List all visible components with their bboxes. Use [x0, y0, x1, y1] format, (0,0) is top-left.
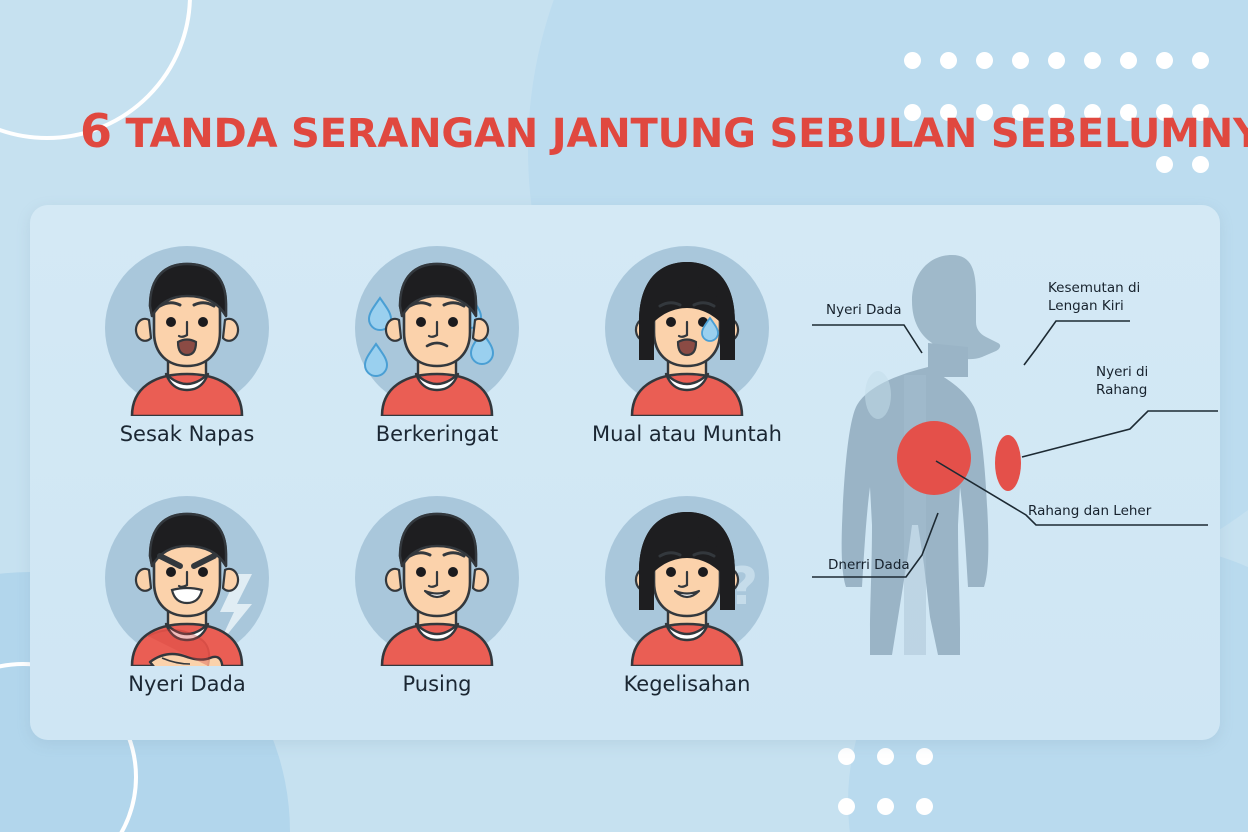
body-silhouette-svg	[800, 225, 1230, 725]
leader-jaw-pain	[1022, 411, 1218, 457]
symptom-card: Berkeringat	[312, 236, 562, 486]
page-title: 6 TANDA SERANGAN JANTUNG SEBULAN SEBELUM…	[80, 104, 1248, 158]
symptom-card-label: Pusing	[312, 672, 562, 696]
title-number: 6	[80, 104, 112, 158]
label-left-arm-tingling: Kesemutan di Lengan Kiri	[1048, 279, 1140, 315]
symptom-card: Pusing	[312, 486, 562, 736]
symptom-card: Mual atau Muntah	[562, 236, 812, 486]
title-text: TANDA SERANGAN JANTUNG SEBULAN SEBELUMNY…	[126, 111, 1248, 157]
man-chest-pain-avatar	[92, 486, 282, 666]
symptom-card-label: Mual atau Muntah	[562, 422, 812, 446]
symptom-card: Nyeri Dada	[62, 486, 312, 736]
symptom-card-grid: Sesak Napas Berkeringat	[62, 236, 802, 736]
man-sweating-avatar	[342, 236, 532, 416]
man-dizzy-avatar	[342, 486, 532, 666]
label-jaw-pain: Nyeri di Rahang	[1096, 363, 1148, 399]
symptom-card: ? Kegelisahan	[562, 486, 812, 736]
label-chest-pain-bottom: Dnerri Dada	[828, 556, 910, 574]
symptom-card-label: Berkeringat	[312, 422, 562, 446]
body-diagram: Nyeri Dada Kesemutan di Lengan Kiri Nyer…	[800, 225, 1230, 725]
symptom-card-label: Nyeri Dada	[62, 672, 312, 696]
man-breathless-avatar	[92, 236, 282, 416]
symptom-card-label: Kegelisahan	[562, 672, 812, 696]
woman-nausea-avatar	[592, 236, 782, 416]
label-chest-pain-top: Nyeri Dada	[826, 301, 902, 319]
leader-left-arm	[1024, 321, 1130, 365]
chest-marker	[897, 421, 971, 495]
arm-marker	[995, 435, 1021, 491]
symptom-card: Sesak Napas	[62, 236, 312, 486]
leader-chest-pain-top	[812, 325, 922, 353]
symptom-card-label: Sesak Napas	[62, 422, 312, 446]
woman-anxiety-avatar: ?	[592, 486, 782, 666]
label-jaw-and-neck: Rahang dan Leher	[1028, 502, 1151, 520]
